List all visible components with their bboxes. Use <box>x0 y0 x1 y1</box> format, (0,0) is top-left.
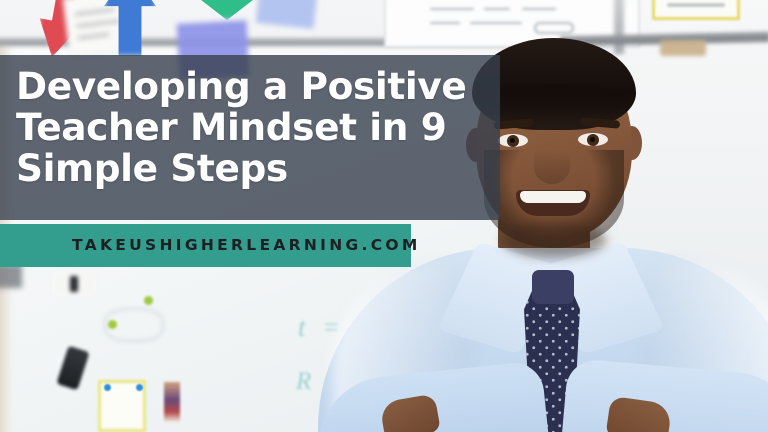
iris-right <box>587 134 599 146</box>
eye-right <box>578 133 608 146</box>
blue-pin <box>136 384 143 391</box>
featured-image-graphic: t = ∫ x R = ∫ ∫ <box>0 0 768 432</box>
title-line-3: Simple Steps <box>16 148 494 189</box>
necktie-knot <box>532 270 574 304</box>
teeth <box>520 191 586 203</box>
green-magnet <box>144 296 153 305</box>
nose <box>534 150 570 184</box>
chin-shadow <box>502 222 606 258</box>
sticky-note <box>52 272 96 296</box>
site-url-text: TAKEUSHIGHERLEARNING.COM <box>72 232 421 259</box>
eye-left <box>498 134 528 147</box>
title-line-1: Developing a Positive <box>16 66 494 107</box>
iris-left <box>507 135 519 147</box>
page-title: Developing a Positive Teacher Mindset in… <box>16 66 494 189</box>
mouth <box>516 190 590 216</box>
board-corner-object <box>0 264 22 288</box>
title-line-2: Teacher Mindset in 9 <box>16 107 494 148</box>
green-magnet <box>108 320 117 329</box>
blue-pin <box>104 384 111 391</box>
photo-card <box>164 382 180 422</box>
